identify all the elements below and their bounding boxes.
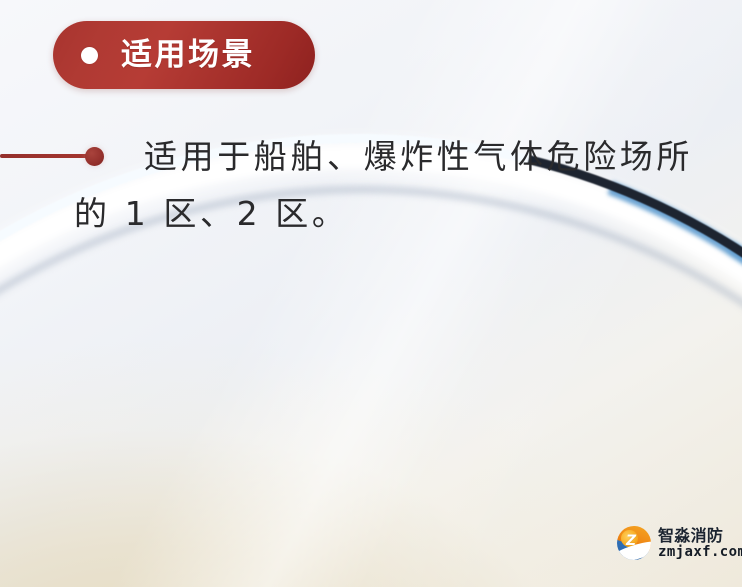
zhimiao-logo-icon: Z bbox=[617, 526, 651, 560]
watermark-text-block: 智淼消防 zmjaxf.com bbox=[658, 527, 742, 560]
body-paragraph: 适用于船舶、爆炸性气体危险场所的 1 区、2 区。 bbox=[74, 128, 714, 242]
section-title-badge: 适用场景 bbox=[53, 21, 315, 89]
company-website-label: zmjaxf.com bbox=[658, 544, 742, 560]
company-name-label: 智淼消防 bbox=[658, 527, 742, 544]
section-title-label: 适用场景 bbox=[121, 40, 255, 71]
watermark-logo: Z 智淼消防 zmjaxf.com bbox=[617, 526, 742, 560]
dot-icon bbox=[81, 47, 98, 64]
logo-letter: Z bbox=[626, 534, 636, 548]
slide-canvas: 适用场景 适用于船舶、爆炸性气体危险场所的 1 区、2 区。 Z 智淼消防 zm… bbox=[0, 0, 742, 587]
